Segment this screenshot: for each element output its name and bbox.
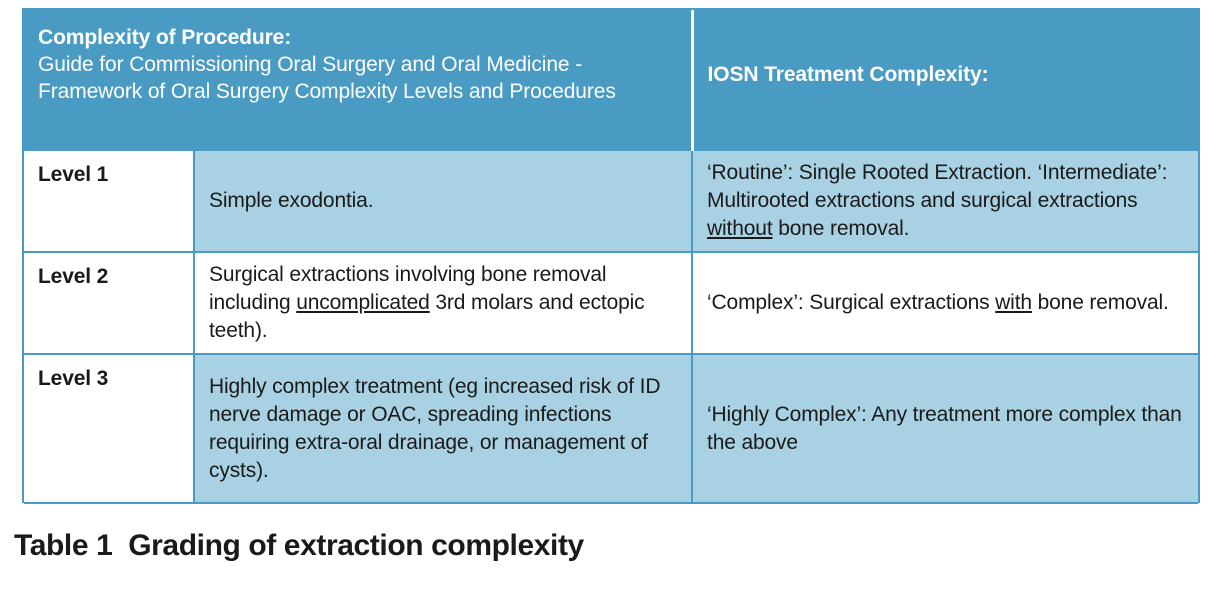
header-row: Complexity of Procedure: Guide for Commi…: [24, 10, 1198, 150]
table-header: Complexity of Procedure: Guide for Commi…: [24, 10, 1198, 150]
level-label-2: Level 2: [24, 252, 194, 354]
header-title-iosn: IOSN Treatment Complexity:: [708, 61, 1185, 88]
level-label-3: Level 3: [24, 354, 194, 503]
table-body: Level 1 Simple exodontia. ‘Routine’: Sin…: [24, 150, 1198, 503]
procedure-description-2: Surgical extractions involving bone remo…: [194, 252, 692, 354]
grading-table-container: Complexity of Procedure: Guide for Commi…: [22, 8, 1200, 503]
header-subtitle-guide: Guide for Commissioning Oral Surgery and…: [38, 51, 677, 105]
header-cell-iosn-treatment-complexity: IOSN Treatment Complexity:: [692, 10, 1198, 150]
procedure-description-1: Simple exodontia.: [194, 150, 692, 252]
table-row: Level 2 Surgical extractions involving b…: [24, 252, 1198, 354]
header-cell-complexity-of-procedure: Complexity of Procedure: Guide for Commi…: [24, 10, 692, 150]
table-caption: Table 1 Grading of extraction complexity: [14, 529, 584, 563]
page-root: Complexity of Procedure: Guide for Commi…: [0, 0, 1222, 600]
header-title-complexity: Complexity of Procedure:: [38, 24, 677, 51]
grading-table: Complexity of Procedure: Guide for Commi…: [24, 10, 1198, 504]
table-row: Level 1 Simple exodontia. ‘Routine’: Sin…: [24, 150, 1198, 252]
iosn-description-1: ‘Routine’: Single Rooted Extraction. ‘In…: [692, 150, 1198, 252]
table-row: Level 3 Highly complex treatment (eg inc…: [24, 354, 1198, 503]
level-label-1: Level 1: [24, 150, 194, 252]
iosn-description-3: ‘Highly Complex’: Any treatment more com…: [692, 354, 1198, 503]
iosn-description-2: ‘Complex’: Surgical extractions with bon…: [692, 252, 1198, 354]
procedure-description-3: Highly complex treatment (eg increased r…: [194, 354, 692, 503]
